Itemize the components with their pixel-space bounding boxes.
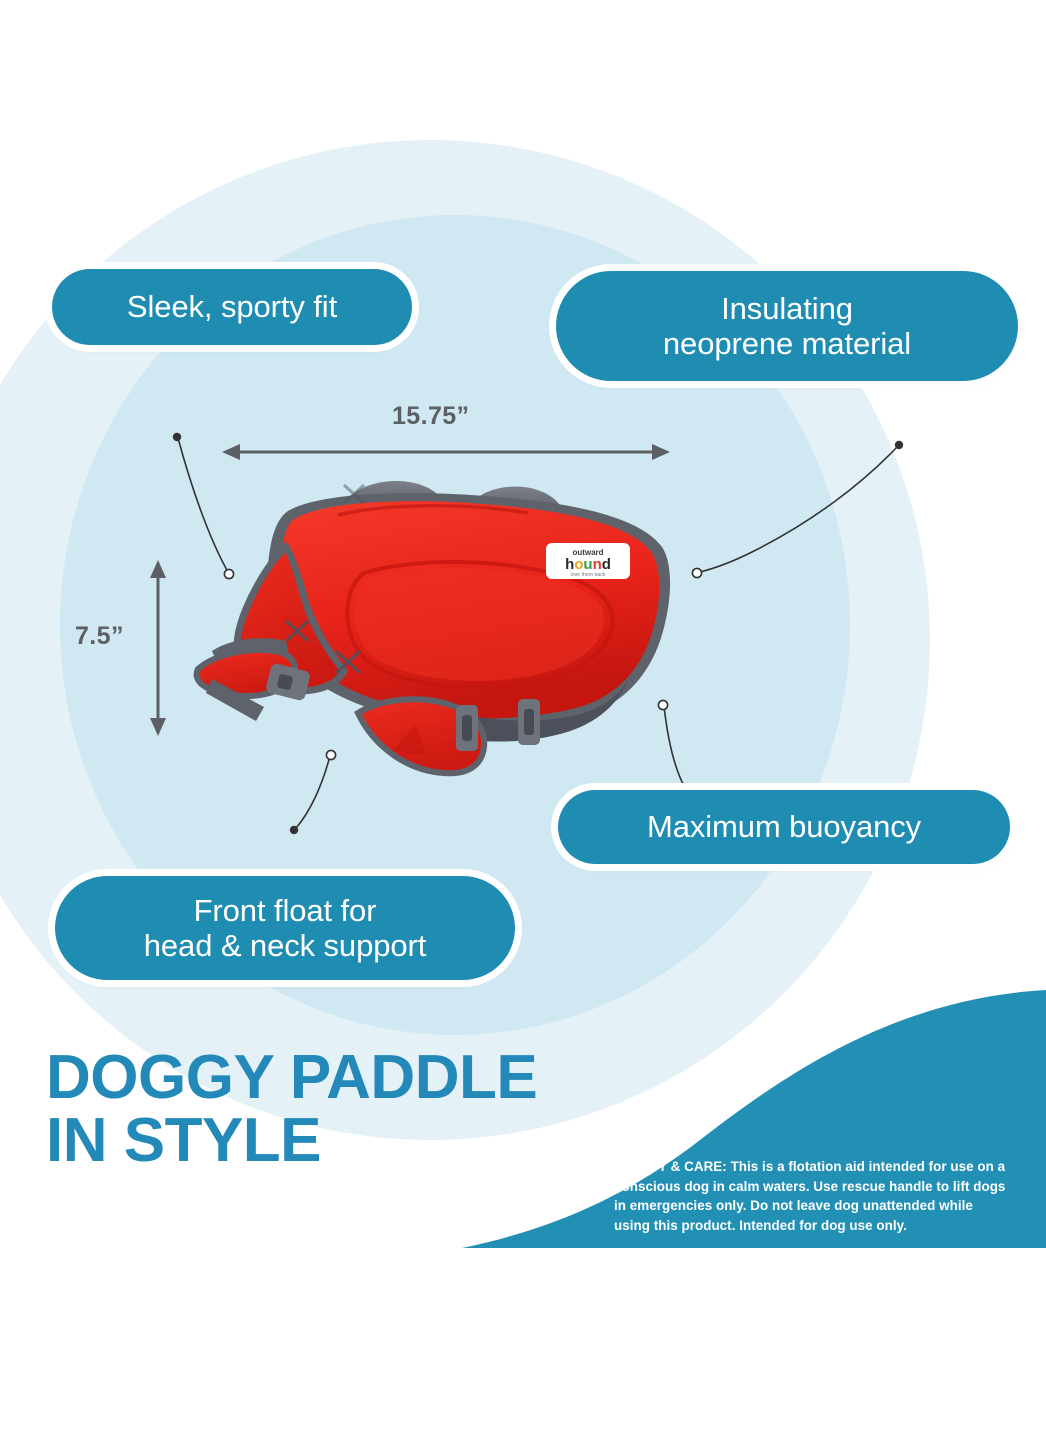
buckle-rear	[518, 699, 540, 745]
page-title-line1: DOGGY PADDLE	[46, 1046, 666, 1109]
callout-text-frontfloat-line2: head & neck support	[144, 928, 426, 963]
callout-pill-sleek-sporty-fit[interactable]: Sleek, sporty fit	[52, 269, 412, 345]
dimension-label-height: 7.5”	[75, 622, 124, 651]
callout-text-neoprene-line2: neoprene material	[663, 326, 911, 361]
callout-pill-maximum-buoyancy[interactable]: Maximum buoyancy	[558, 790, 1010, 864]
brand-logo-patch: outward hound love them back	[546, 543, 630, 579]
callout-text-sleek: Sleek, sporty fit	[127, 289, 337, 324]
callout-text-neoprene-line1: Insulating	[663, 291, 911, 326]
callout-text-frontfloat-line1: Front float for	[144, 893, 426, 928]
callout-text-buoyancy: Maximum buoyancy	[647, 809, 921, 844]
product-image-dog-life-jacket: outward hound love them back	[168, 455, 688, 795]
buckle-mid	[456, 705, 478, 751]
callout-pill-insulating-neoprene[interactable]: Insulating neoprene material	[556, 271, 1018, 381]
page-title-line2: IN STYLE	[46, 1109, 666, 1172]
svg-text:love them back: love them back	[571, 572, 606, 578]
infographic-canvas: outward hound love them back	[0, 0, 1046, 1440]
jacket-panel	[354, 568, 604, 681]
dimension-label-width: 15.75”	[392, 402, 469, 431]
svg-text:hound: hound	[565, 556, 611, 573]
callout-pill-front-float[interactable]: Front float for head & neck support	[55, 876, 515, 980]
page-title: DOGGY PADDLE IN STYLE	[46, 1046, 666, 1172]
safety-and-care-text: SAFETY & CARE: This is a flotation aid i…	[614, 1157, 1006, 1236]
